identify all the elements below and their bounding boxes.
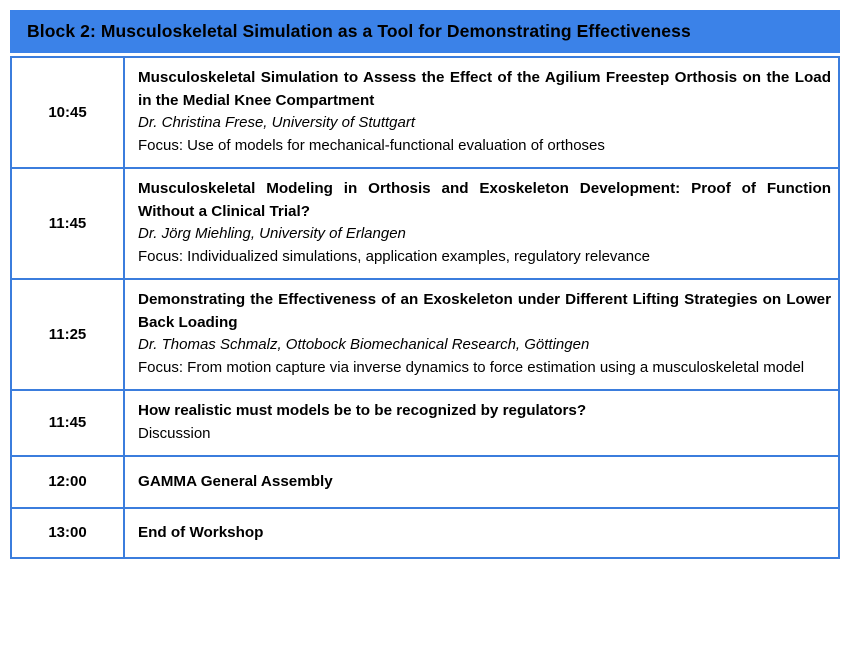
talk-title: GAMMA General Assembly [138, 471, 831, 494]
talk-title: Musculoskeletal Modeling in Orthosis and… [138, 178, 831, 223]
row-detail: How realistic must models be to be recog… [124, 390, 839, 456]
talk-focus: Focus: Individualized simulations, appli… [138, 246, 831, 268]
table-row: 12:00 GAMMA General Assembly [11, 456, 839, 508]
row-time: 12:00 [11, 456, 124, 508]
talk-title: End of Workshop [138, 522, 831, 545]
schedule-block: Block 2: Musculoskeletal Simulation as a… [10, 10, 840, 559]
table-row: 11:25 Demonstrating the Effectiveness of… [11, 279, 839, 390]
row-time: 11:45 [11, 168, 124, 279]
row-detail: End of Workshop [124, 508, 839, 558]
table-row: 13:00 End of Workshop [11, 508, 839, 558]
row-detail: Demonstrating the Effectiveness of an Ex… [124, 279, 839, 390]
table-row: 11:45 How realistic must models be to be… [11, 390, 839, 456]
row-time: 10:45 [11, 57, 124, 168]
row-detail: GAMMA General Assembly [124, 456, 839, 508]
talk-title: Musculoskeletal Simulation to Assess the… [138, 67, 831, 112]
talk-focus: Focus: From motion capture via inverse d… [138, 357, 831, 379]
schedule-table-body: 10:45 Musculoskeletal Simulation to Asse… [11, 57, 839, 558]
talk-subtitle: Discussion [138, 423, 831, 445]
talk-speaker: Dr. Christina Frese, University of Stutt… [138, 112, 831, 134]
talk-title: Demonstrating the Effectiveness of an Ex… [138, 289, 831, 334]
talk-title: How realistic must models be to be recog… [138, 400, 831, 423]
talk-speaker: Dr. Thomas Schmalz, Ottobock Biomechanic… [138, 334, 831, 356]
talk-focus: Focus: Use of models for mechanical-func… [138, 135, 831, 157]
table-row: 11:45 Musculoskeletal Modeling in Orthos… [11, 168, 839, 279]
block-header: Block 2: Musculoskeletal Simulation as a… [10, 10, 840, 53]
block-header-title: Block 2: Musculoskeletal Simulation as a… [27, 21, 691, 42]
row-time: 11:45 [11, 390, 124, 456]
row-detail: Musculoskeletal Simulation to Assess the… [124, 57, 839, 168]
row-time: 13:00 [11, 508, 124, 558]
schedule-table: 10:45 Musculoskeletal Simulation to Asse… [10, 56, 840, 559]
talk-speaker: Dr. Jörg Miehling, University of Erlange… [138, 223, 831, 245]
row-detail: Musculoskeletal Modeling in Orthosis and… [124, 168, 839, 279]
table-row: 10:45 Musculoskeletal Simulation to Asse… [11, 57, 839, 168]
row-time: 11:25 [11, 279, 124, 390]
